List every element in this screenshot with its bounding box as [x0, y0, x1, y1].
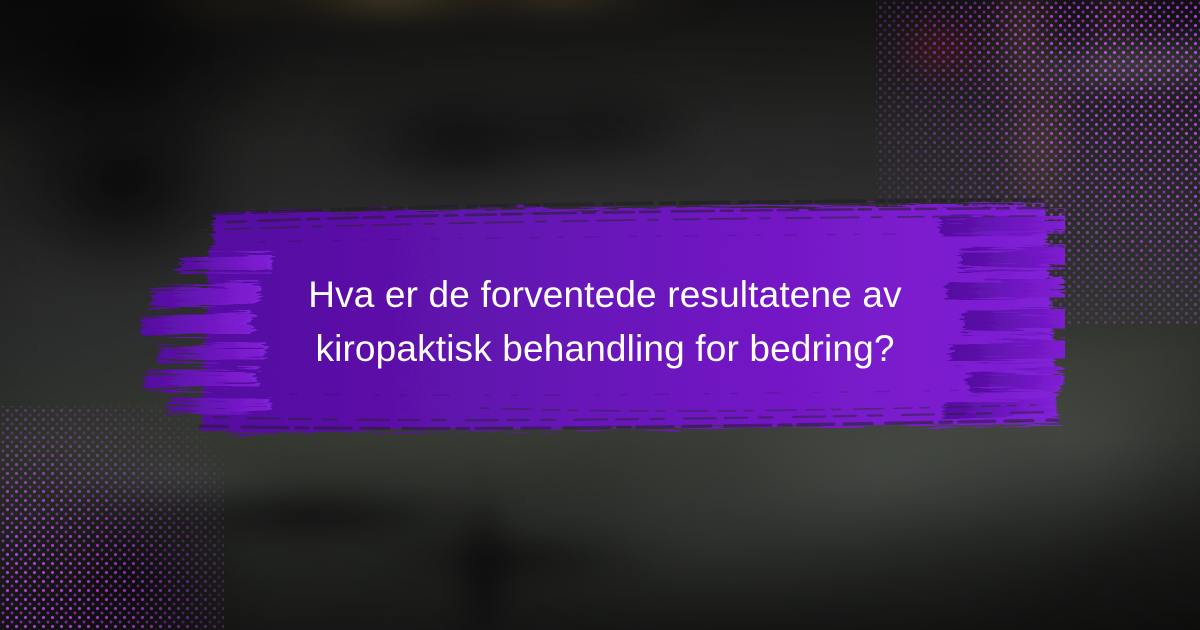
headline-text: Hva er de forventede resultatene av kiro… — [210, 268, 1000, 376]
share-card: Hva er de forventede resultatene av kiro… — [0, 0, 1200, 630]
